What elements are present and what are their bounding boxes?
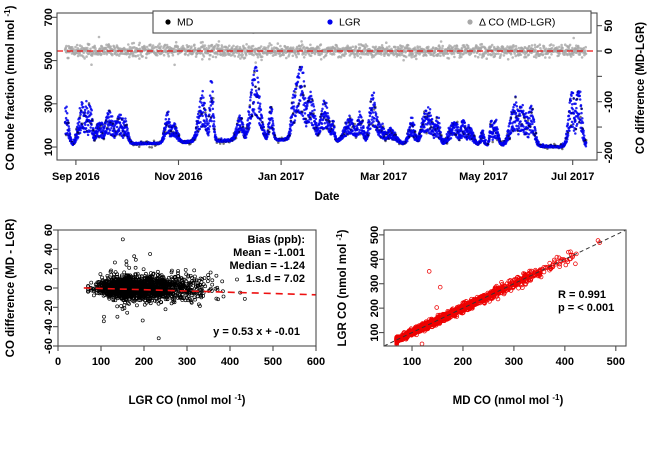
corr-y-title-text: LGR CO (nmol mol	[337, 244, 349, 347]
bias-stats-mean: Mean = -1.001	[233, 247, 305, 259]
bias-stats-median: Median = -1.24	[229, 260, 305, 272]
bias-x-title-text: LGR CO (nmol mol	[128, 395, 231, 407]
timeseries-y-right-title: CO difference (MD-LGR)	[635, 22, 647, 154]
corr-r-label: R = 0.991	[558, 289, 606, 301]
timeseries-svg: 100300500700 500-100-200 Sep 2016Nov 201…	[0, 0, 652, 210]
bias-stats-block: Bias (ppb): Mean = -1.001 Median = -1.24…	[229, 234, 305, 285]
corr-scatter-svg: 100200300400500 100200300400500 LGR CO (…	[336, 210, 652, 459]
bias-y-axis-ticks: 6040200-20-40-60	[43, 224, 58, 354]
timeseries-left-axis-ticks: 100300500700	[43, 8, 57, 156]
corr-y-title: LGR CO (nmol mol -1)	[336, 229, 349, 346]
bias-y-title-text: CO difference (MD - LGR)	[5, 219, 17, 358]
timeseries-points	[64, 28, 588, 150]
corr-p-label: p = < 0.001	[558, 302, 614, 314]
corr-y-axis-ticks: 100200300400500	[369, 226, 384, 342]
bias-fit-equation: y = 0.53 x + -0.01	[213, 326, 300, 338]
bias-y-title: CO difference (MD - LGR)	[5, 219, 17, 358]
timeseries-x-title: Date	[315, 191, 340, 203]
corr-x-title-text: MD CO (nmol mol	[453, 395, 549, 407]
panel-timeseries: 100300500700 500-100-200 Sep 2016Nov 201…	[0, 0, 652, 210]
timeseries-right-axis-ticks: 500-100-200	[597, 20, 615, 164]
bias-x-title: LGR CO (nmol mol -1)	[128, 393, 245, 407]
timeseries-y-left-title: CO mole fraction (nmol mol -1)	[3, 5, 17, 170]
bias-stats-sd: 1.s.d = 7.02	[246, 273, 305, 285]
y-left-title-text: CO mole fraction (nmol mol	[5, 20, 17, 171]
bias-scatter-svg: 6040200-20-40-60 0100200300400500600 CO …	[0, 210, 336, 459]
timeseries-x-axis-ticks: Sep 2016Nov 2016Jan 2017Mar 2017May 2017…	[52, 160, 594, 183]
panel-bias-vs-lgr: 6040200-20-40-60 0100200300400500600 CO …	[0, 210, 336, 459]
timeseries-plot-box	[57, 13, 597, 160]
bias-x-axis-ticks: 0100200300400500600	[55, 346, 325, 368]
panel-lgr-vs-md: 100200300400500 100200300400500 LGR CO (…	[336, 210, 652, 459]
figure-root: 100300500700 500-100-200 Sep 2016Nov 201…	[0, 0, 652, 459]
corr-x-title: MD CO (nmol mol -1)	[453, 393, 564, 407]
corr-x-axis-ticks: 100200300400500	[403, 346, 625, 368]
timeseries-legend: MDLGRΔ CO (MD-LGR)	[153, 11, 591, 33]
bias-stats-heading: Bias (ppb):	[248, 234, 305, 246]
